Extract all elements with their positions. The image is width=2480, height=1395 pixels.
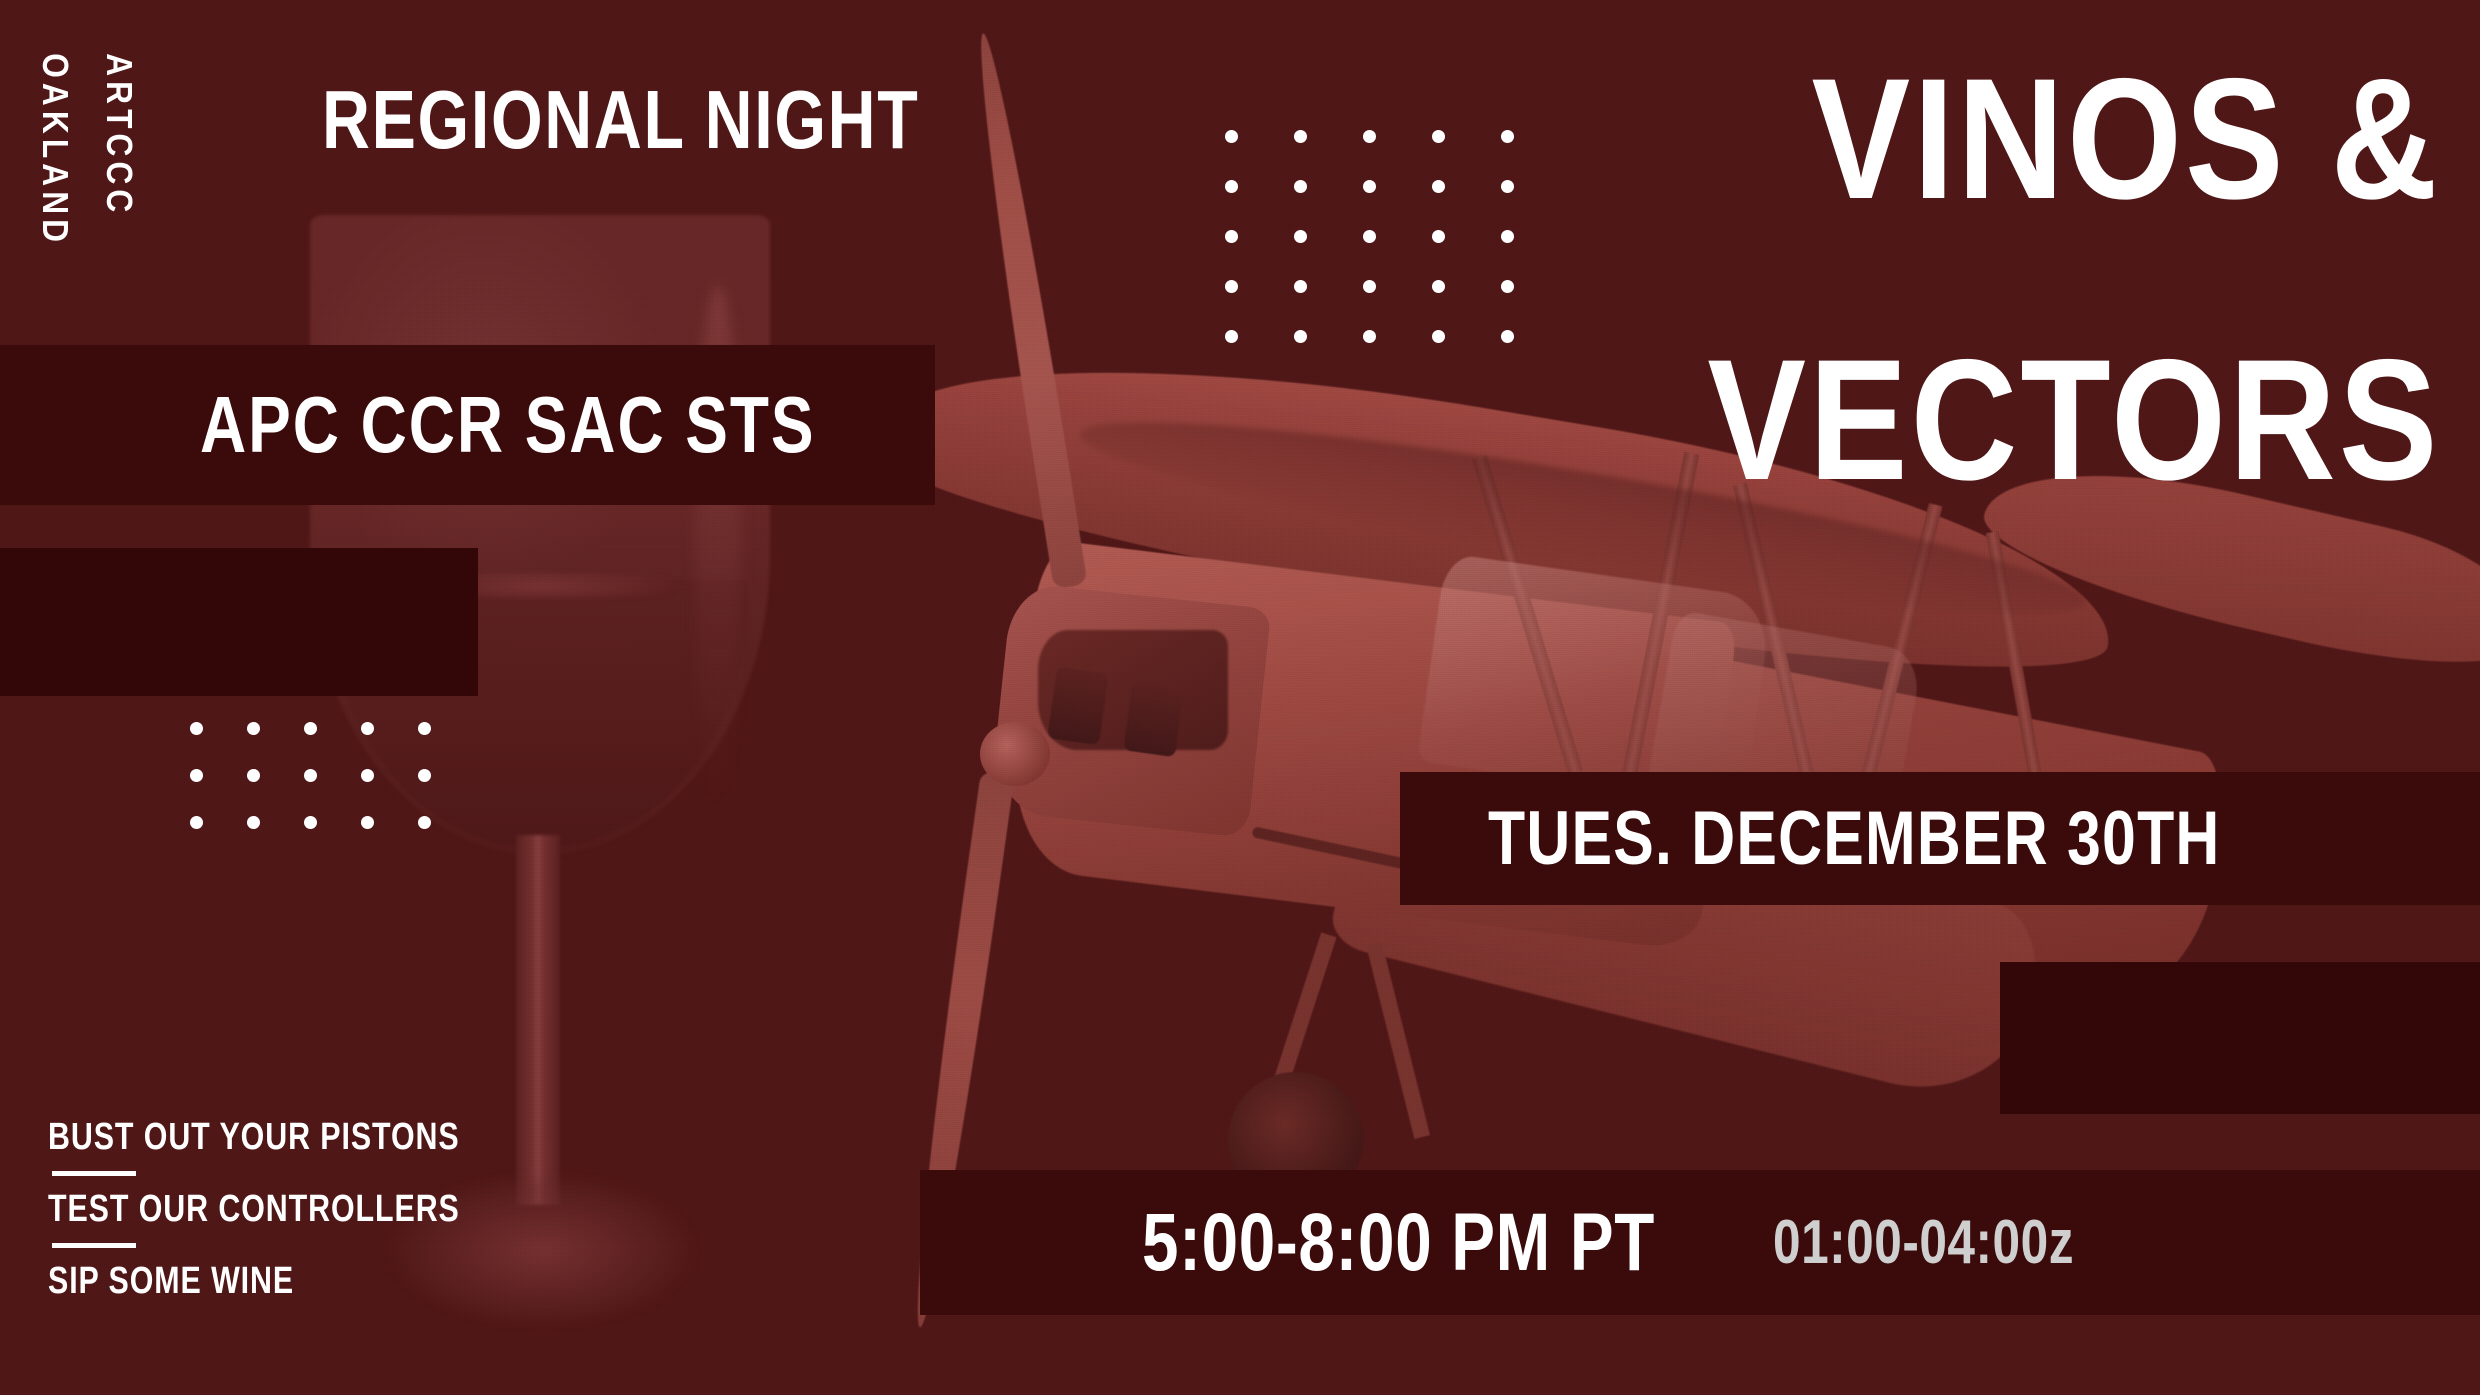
date-banner: TUES. DECEMBER 30TH (1400, 772, 2480, 905)
dot-grid-left (190, 722, 475, 863)
poster-title: VINOS & VECTORS (1588, 58, 2440, 503)
time-local-label: 5:00-8:00 PM PT (1142, 1202, 1655, 1284)
event-poster: OAKLAND ARTCCC REGIONAL NIGHT APC CCR SA… (0, 0, 2480, 1395)
facilities-label: APC CCR SAC STS (200, 385, 816, 465)
organization-vertical-label: OAKLAND ARTCCC (34, 40, 140, 260)
tagline-divider (52, 1243, 136, 1248)
time-banner: 5:00-8:00 PM PT 01:00-04:00z (920, 1170, 2480, 1315)
tagline-item: TEST OUR CONTROLLERS (48, 1190, 496, 1228)
dot-grid-top (1225, 130, 1570, 380)
tagline-list: BUST OUT YOUR PISTONS TEST OUR CONTROLLE… (48, 1118, 608, 1300)
event-kind-heading: REGIONAL NIGHT (322, 78, 920, 161)
title-line-vectors: VECTORS (1707, 339, 2440, 502)
org-line-oakland: OAKLAND (34, 53, 76, 247)
tagline-item: SIP SOME WINE (48, 1262, 496, 1300)
tagline-item: BUST OUT YOUR PISTONS (48, 1118, 496, 1156)
facilities-banner: APC CCR SAC STS (0, 345, 935, 505)
tagline-divider (52, 1171, 136, 1176)
title-line-vinos: VINOS & (1707, 58, 2440, 221)
org-line-artccc: ARTCCC (98, 53, 140, 247)
decorative-block-left (0, 548, 478, 696)
decorative-block-right (2000, 962, 2480, 1114)
date-label: TUES. DECEMBER 30TH (1488, 801, 2221, 877)
time-zulu-label: 01:00-04:00z (1773, 1212, 2074, 1274)
